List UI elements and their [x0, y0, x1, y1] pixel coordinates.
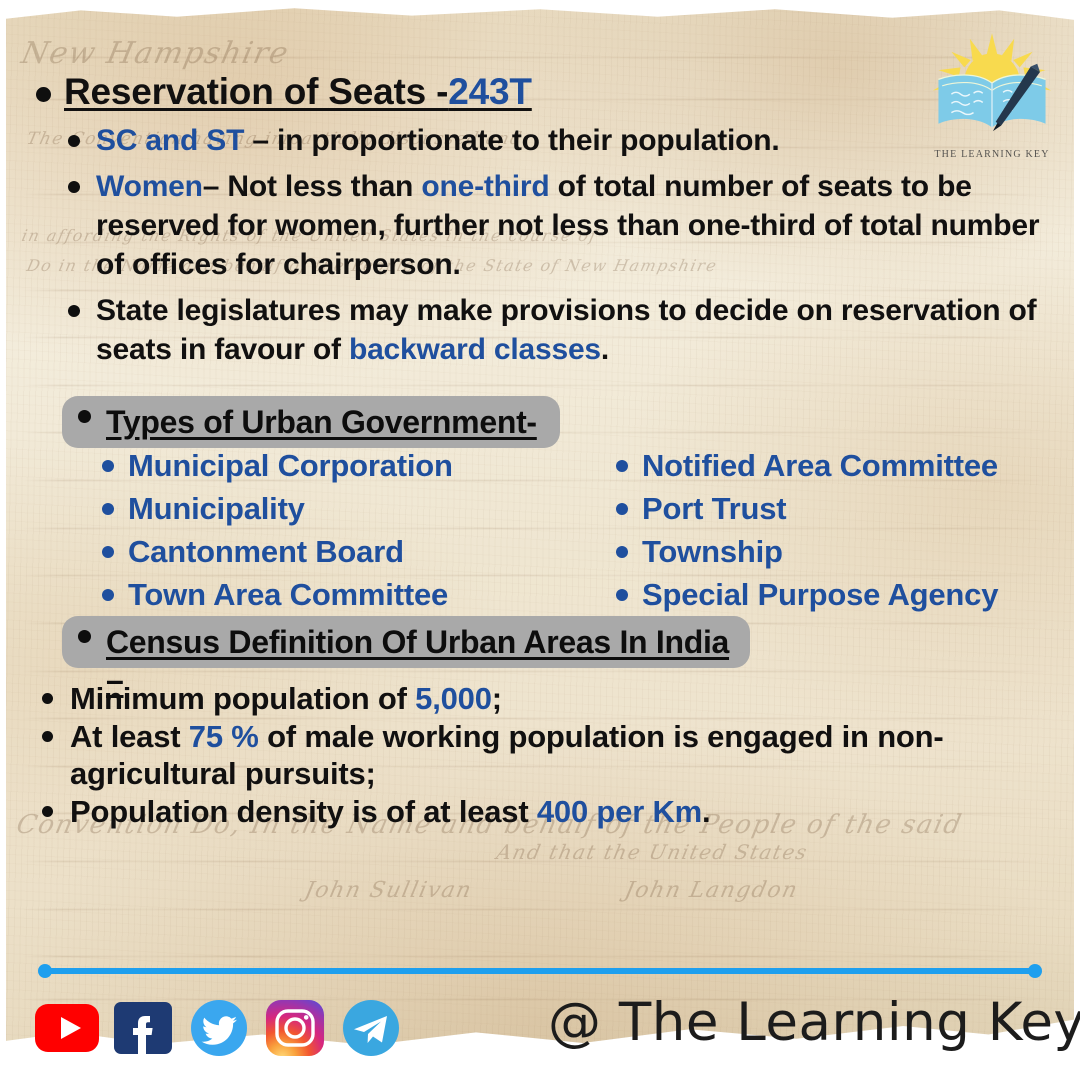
urban-types-column-right: Notified Area Committee Port Trust Towns… — [556, 446, 1070, 618]
slide-content: THE LEARNING KEY Reservation of Seats -2… — [0, 0, 1080, 1080]
heading-text: Reservation of Seats - — [64, 71, 448, 112]
channel-handle: @ The Learning Key — [548, 992, 1080, 1053]
bullet-emphasis: backward classes — [349, 333, 601, 366]
urban-types-column-left: Municipal Corporation Municipality Canto… — [20, 446, 556, 618]
list-item: State legislatures may make provisions t… — [20, 291, 1070, 369]
bullet-lead: Women — [96, 170, 203, 203]
heading-band-census-definition: Census Definition Of Urban Areas In Indi… — [62, 616, 750, 668]
facebook-icon[interactable] — [109, 994, 177, 1062]
divider-bar — [45, 968, 1035, 974]
list-item: Women– Not less than one-third of total … — [20, 167, 1070, 284]
list-item: Notified Area Committee — [604, 446, 1070, 486]
bullet-body: – Not less than — [203, 170, 422, 203]
list-item: Minimum population of 5,000; — [20, 680, 1070, 717]
list-item: Population density is of at least 400 pe… — [20, 793, 1070, 830]
bullet-body: Population density is of at least — [70, 794, 537, 829]
list-item: Town Area Committee — [90, 575, 556, 615]
heading-reservation-of-seats: Reservation of Seats -243T — [20, 70, 1070, 114]
list-item: Port Trust — [604, 489, 1070, 529]
telegram-icon[interactable] — [337, 994, 405, 1062]
list-item: Municipal Corporation — [90, 446, 556, 486]
bullet-tail: . — [702, 794, 710, 829]
list-item: At least 75 % of male working population… — [20, 718, 1070, 792]
bullet-lead: SC and ST — [96, 124, 244, 157]
list-item: Municipality — [90, 489, 556, 529]
heading-types-of-urban-government: Types of Urban Government- — [62, 396, 560, 441]
census-bullet-list: Minimum population of 5,000; At least 75… — [20, 680, 1070, 831]
bullet-tail: ; — [492, 681, 502, 716]
section-reservation-of-seats: Reservation of Seats -243T SC and ST – i… — [20, 70, 1070, 369]
infographic-page: New Hampshire The Convention having impa… — [0, 0, 1080, 1080]
footer-divider — [38, 964, 1042, 978]
reservation-bullet-list: SC and ST – in proportionate to their po… — [20, 121, 1070, 369]
list-item: SC and ST – in proportionate to their po… — [20, 121, 1070, 160]
bullet-emphasis: 75 % — [189, 719, 259, 754]
bullet-tail: . — [601, 333, 609, 366]
bullet-emphasis: one-third — [421, 170, 549, 203]
heading-article-number: 243T — [448, 71, 532, 112]
twitter-icon[interactable] — [185, 994, 253, 1062]
list-item: Special Purpose Agency — [604, 575, 1070, 615]
youtube-icon[interactable] — [33, 994, 101, 1062]
bullet-emphasis: 400 per Km — [537, 794, 702, 829]
bullet-body: – in proportionate to their population. — [244, 124, 779, 157]
bullet-emphasis: 5,000 — [415, 681, 492, 716]
urban-government-type-columns: Municipal Corporation Municipality Canto… — [20, 446, 1070, 618]
divider-dot-right — [1028, 964, 1042, 978]
list-item: Cantonment Board — [90, 532, 556, 572]
bullet-body: At least — [70, 719, 189, 754]
heading-band-urban-types: Types of Urban Government- — [62, 396, 560, 448]
list-item: Township — [604, 532, 1070, 572]
bullet-body: Minimum population of — [70, 681, 415, 716]
instagram-icon[interactable] — [261, 994, 329, 1062]
social-links — [33, 994, 405, 1062]
